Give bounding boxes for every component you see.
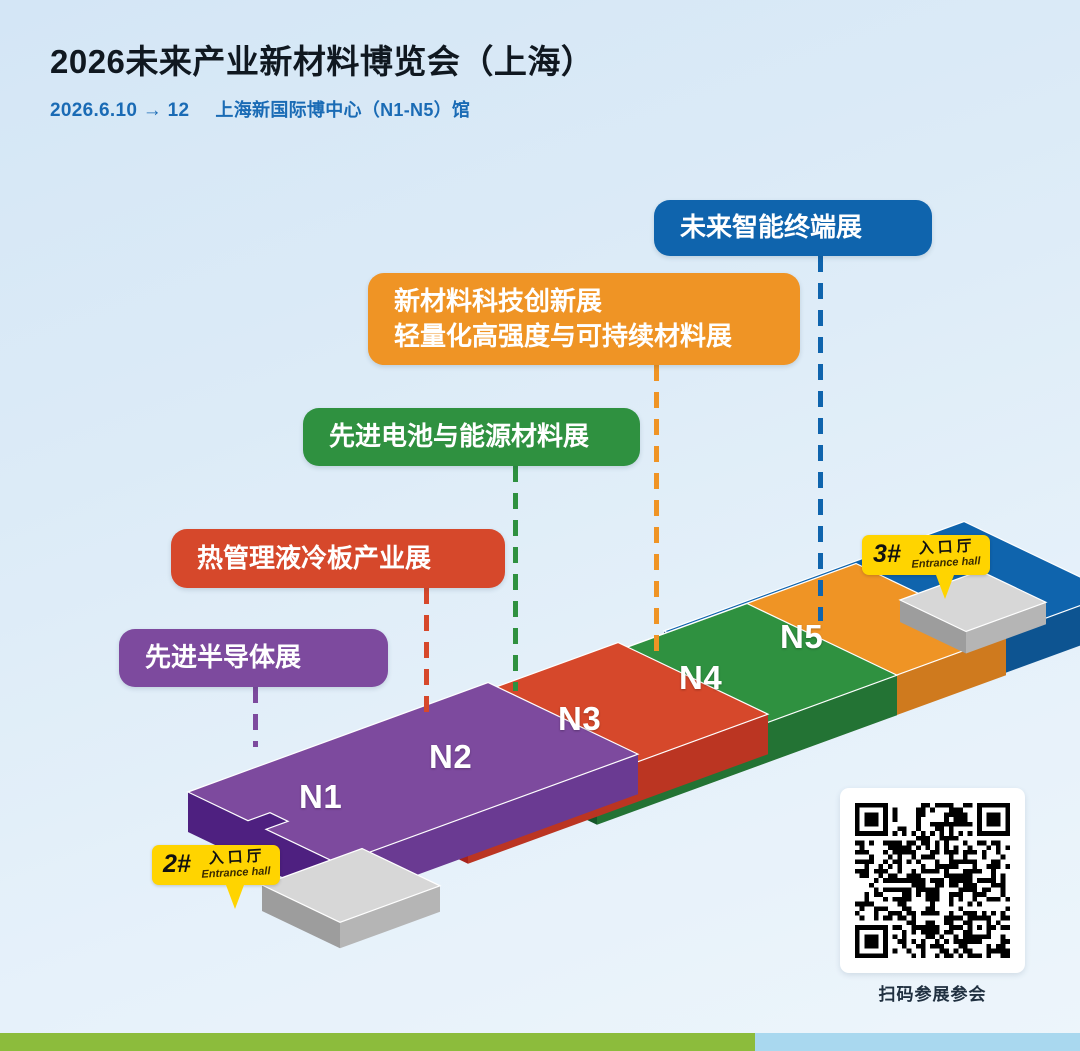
qr-caption: 扫码参展参会 bbox=[840, 980, 1025, 1005]
entrance-label-en: Entrance hall bbox=[201, 865, 271, 881]
entrance-label-cn: 入口厅 bbox=[914, 538, 976, 557]
exhibit-label-text: 新材料科技创新展 bbox=[394, 284, 774, 319]
hall-name-N3: N3 bbox=[558, 700, 601, 738]
bottom-color-bar bbox=[0, 1033, 1080, 1051]
entrance-text: 入口厅Entrance hall bbox=[910, 538, 980, 570]
exhibit-label-text: 未来智能终端展 bbox=[680, 210, 906, 245]
header-subline: 2026.6.10 → 12 上海新国际博中心（N1-N5）馆 bbox=[50, 96, 950, 122]
exhibit-label-new-materials-tech-innovation[interactable]: 新材料科技创新展轻量化高强度与可持续材料展 bbox=[368, 273, 800, 365]
entrance-pointer bbox=[226, 885, 244, 909]
poster-canvas: 2026未来产业新材料博览会（上海） 2026.6.10 → 12 上海新国际博… bbox=[0, 0, 1080, 1051]
header: 2026未来产业新材料博览会（上海） 2026.6.10 → 12 上海新国际博… bbox=[50, 42, 950, 122]
entrance-2[interactable]: 2#入口厅Entrance hall bbox=[152, 845, 280, 885]
entrance-3[interactable]: 3#入口厅Entrance hall bbox=[862, 535, 990, 575]
exhibit-label-text: 先进半导体展 bbox=[145, 640, 362, 675]
connector-battery-energy-materials bbox=[513, 466, 518, 691]
entrance-pointer bbox=[936, 575, 954, 599]
exhibit-label-text: 热管理液冷板产业展 bbox=[197, 541, 479, 576]
hall-name-N2: N2 bbox=[429, 738, 472, 776]
bottom-bar-green bbox=[0, 1033, 755, 1051]
entrance-label-cn: 入口厅 bbox=[204, 848, 266, 867]
hall-name-N4: N4 bbox=[679, 659, 722, 697]
connector-new-materials-tech-innovation bbox=[654, 365, 659, 660]
event-dates: 2026.6.10 → 12 bbox=[50, 100, 189, 122]
entrance-number: 2# bbox=[163, 852, 191, 877]
connector-thermal-liquid-cooling bbox=[424, 588, 429, 723]
hall-name-N1: N1 bbox=[299, 778, 342, 816]
exhibit-label-thermal-liquid-cooling[interactable]: 热管理液冷板产业展 bbox=[171, 529, 505, 588]
page-title: 2026未来产业新材料博览会（上海） bbox=[50, 42, 950, 82]
exhibit-label-future-smart-terminals[interactable]: 未来智能终端展 bbox=[654, 200, 932, 256]
hall-name-N5: N5 bbox=[780, 618, 823, 656]
bottom-bar-blue bbox=[755, 1033, 1080, 1051]
exhibit-label-battery-energy-materials[interactable]: 先进电池与能源材料展 bbox=[303, 408, 640, 466]
exhibit-label-text: 轻量化高强度与可持续材料展 bbox=[394, 319, 774, 354]
entrance-label-en: Entrance hall bbox=[911, 555, 981, 571]
event-venue: 上海新国际博中心（N1-N5）馆 bbox=[215, 96, 470, 122]
entrance-text: 入口厅Entrance hall bbox=[200, 848, 270, 880]
exhibit-label-semiconductor[interactable]: 先进半导体展 bbox=[119, 629, 388, 687]
entrance-pad-3 bbox=[900, 571, 1046, 654]
connector-future-smart-terminals bbox=[818, 256, 823, 621]
connector-semiconductor bbox=[253, 687, 258, 747]
qr-code-image bbox=[855, 803, 1010, 958]
entrance-number: 3# bbox=[873, 542, 901, 567]
exhibit-label-text: 先进电池与能源材料展 bbox=[329, 419, 614, 454]
qr-card[interactable] bbox=[840, 788, 1025, 973]
entrance-pad-2 bbox=[262, 849, 440, 949]
